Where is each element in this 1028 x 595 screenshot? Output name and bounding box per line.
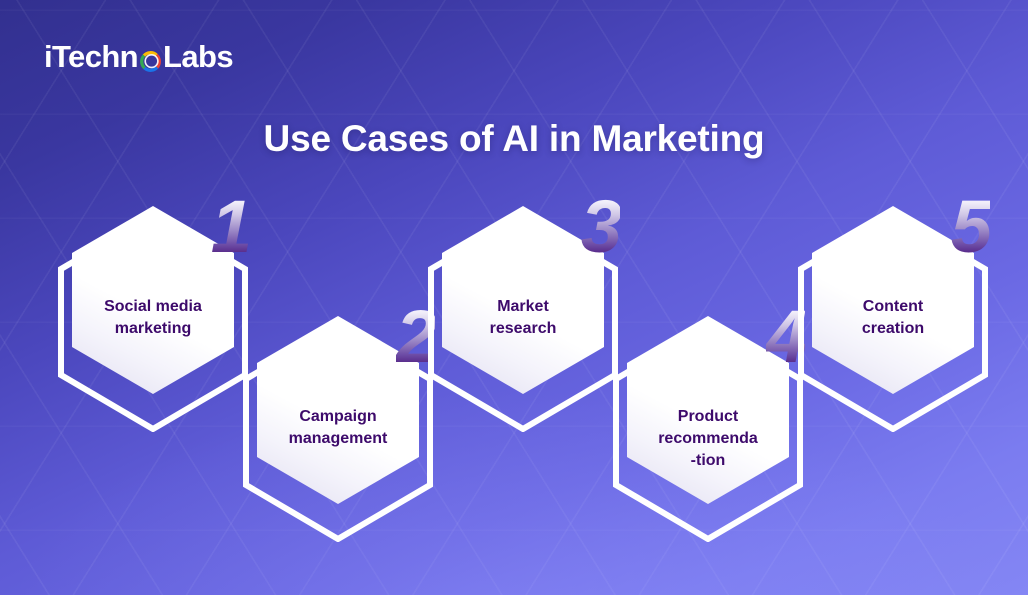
use-case-label-2: Campaign management — [257, 406, 419, 450]
use-case-label-3: Market research — [442, 296, 604, 340]
infographic-canvas: iTechn Labs Use Cases of AI in Marketing — [0, 0, 1028, 595]
use-case-label-4: Product recommenda -tion — [627, 406, 789, 472]
use-case-node-2[interactable]: 2 Campaign management — [243, 322, 433, 542]
step-number-5: 5 — [951, 190, 990, 264]
use-case-label-1: Social media marketing — [72, 296, 234, 340]
use-case-node-1[interactable]: 1 Social media marketing — [58, 212, 248, 432]
use-case-hex-chain: 1 Social media marketing 2 Campaign mana… — [0, 0, 1028, 595]
use-case-node-4[interactable]: 4 Product recommenda -tion — [613, 322, 803, 542]
step-number-1: 1 — [211, 190, 250, 264]
use-case-node-5[interactable]: 5 Content creation — [798, 212, 988, 432]
step-number-3: 3 — [581, 190, 620, 264]
use-case-node-3[interactable]: 3 Market research — [428, 212, 618, 432]
use-case-label-5: Content creation — [812, 296, 974, 340]
